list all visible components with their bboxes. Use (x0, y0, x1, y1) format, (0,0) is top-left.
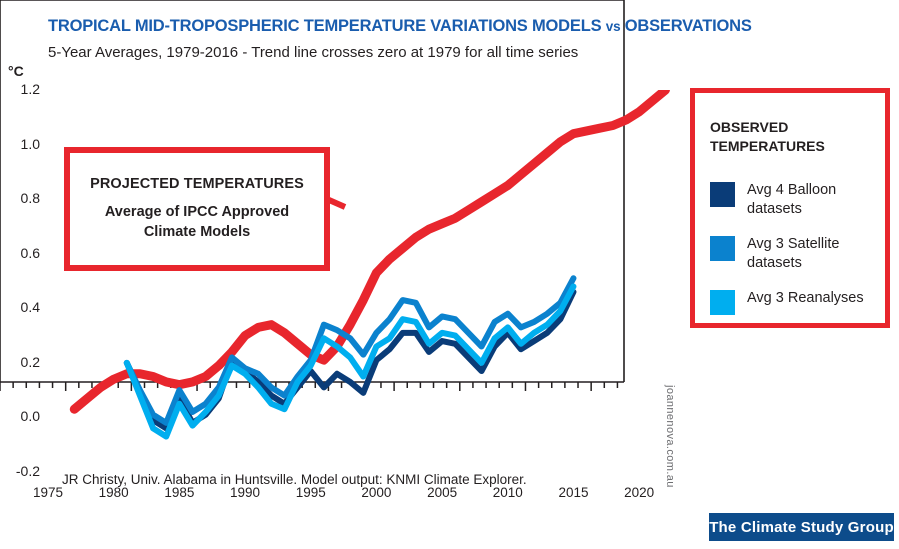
y-axis-tick-label: 1.2 (0, 81, 40, 97)
legend-item-list: Avg 4 Balloon datasetsAvg 3 Satellite da… (710, 181, 877, 332)
callout-line-1: Average of IPCC Approved (105, 204, 289, 220)
projected-temperatures-callout: PROJECTED TEMPERATURES Average of IPCC A… (64, 147, 330, 271)
series-line (127, 278, 574, 423)
legend-item: Avg 4 Balloon datasets (710, 181, 877, 218)
x-axis-tick-label: 1980 (90, 485, 138, 500)
legend-item: Avg 3 Reanalyses (710, 289, 877, 315)
x-axis-tick-label: 1995 (287, 485, 335, 500)
legend-item-label: Avg 4 Balloon datasets (747, 181, 877, 218)
callout-line-2: Climate Models (144, 224, 250, 240)
chart-infographic: TROPICAL MID-TROPOSPHERIC TEMPERATURE VA… (0, 0, 899, 549)
publisher-badge: The Climate Study Group (709, 513, 894, 541)
watermark-text: joannenova.com.au (664, 385, 676, 488)
legend-color-swatch (710, 290, 735, 315)
x-axis-tick-label: 2020 (615, 485, 663, 500)
x-axis-tick-label: 1975 (24, 485, 72, 500)
x-axis-tick-label: 1985 (155, 485, 203, 500)
legend-color-swatch (710, 236, 735, 261)
y-axis-tick-label: 0.4 (0, 299, 40, 315)
x-axis-tick-label: 2005 (418, 485, 466, 500)
legend-item-label: Avg 3 Satellite datasets (747, 235, 877, 272)
legend-item: Avg 3 Satellite datasets (710, 235, 877, 272)
legend-title: OBSERVED TEMPERATURES (710, 118, 825, 155)
callout-heading: PROJECTED TEMPERATURES (90, 176, 304, 192)
legend-title-line-2: TEMPERATURES (710, 138, 825, 154)
y-axis-tick-label: 0.6 (0, 245, 40, 261)
y-axis-tick-label: 1.0 (0, 136, 40, 152)
legend-box: OBSERVED TEMPERATURES Avg 4 Balloon data… (690, 88, 890, 328)
y-axis-tick-label: -0.2 (0, 463, 40, 479)
y-axis-tick-label: 0.0 (0, 408, 40, 424)
x-axis-tick-label: 2000 (352, 485, 400, 500)
x-axis-tick-label: 2010 (484, 485, 532, 500)
callout-subtext: Average of IPCC Approved Climate Models (105, 203, 289, 241)
x-axis-tick-label: 2015 (549, 485, 597, 500)
legend-title-line-1: OBSERVED (710, 119, 788, 135)
publisher-badge-label: The Climate Study Group (709, 519, 894, 536)
legend-color-swatch (710, 182, 735, 207)
y-axis-tick-label: 0.2 (0, 354, 40, 370)
x-axis-tick-label: 1990 (221, 485, 269, 500)
legend-item-label: Avg 3 Reanalyses (747, 289, 864, 308)
y-axis-tick-label: 0.8 (0, 190, 40, 206)
